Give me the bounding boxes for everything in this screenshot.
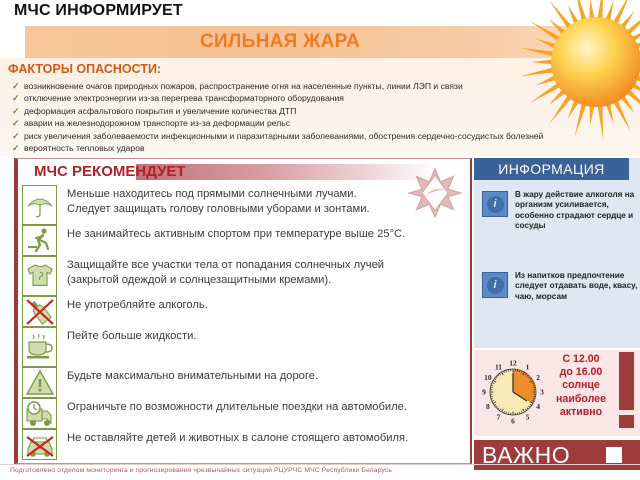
- info-icon: i: [482, 191, 508, 217]
- svg-text:2: 2: [536, 373, 540, 382]
- svg-text:11: 11: [495, 362, 502, 371]
- svg-text:5: 5: [526, 413, 530, 422]
- danger-factor-text: вероятность тепловых ударов: [24, 143, 145, 153]
- danger-factor-item: ✓возникновение очагов природных пожаров,…: [10, 80, 640, 92]
- danger-factor-item: ✓деформация асфальтового покрытия и увел…: [10, 105, 640, 117]
- check-icon: ✓: [12, 80, 20, 92]
- svg-text:12: 12: [509, 359, 517, 368]
- info-icon-glyph: i: [487, 196, 504, 213]
- information-item: i В жару действие алкоголя на организм у…: [482, 190, 640, 232]
- recommendation-text: Будьте максимально внимательными на доро…: [57, 367, 468, 384]
- svg-text:8: 8: [486, 402, 490, 411]
- svg-text:6: 6: [511, 417, 515, 424]
- recommendation-row: Защищайте все участки тела от попадания …: [22, 256, 468, 296]
- hero-banner-title: СИЛЬНАЯ ЖАРА: [0, 26, 560, 58]
- danger-factor-text: аварии на железнодорожном транспорте из-…: [24, 118, 290, 128]
- sun-activity-text: С 12.00до 16.00солнценаиболееактивно: [550, 353, 612, 419]
- no-car-icon: [22, 429, 57, 460]
- check-icon: ✓: [12, 142, 20, 154]
- danger-factor-text: возникновение очагов природных пожаров, …: [24, 81, 463, 91]
- check-icon: ✓: [12, 117, 20, 129]
- information-heading-label: ИНФОРМАЦИЯ: [498, 161, 604, 177]
- info-icon: i: [482, 272, 508, 298]
- information-panel: ИНФОРМАЦИЯ i В жару действие алкоголя на…: [474, 158, 640, 348]
- svg-text:4: 4: [536, 402, 540, 411]
- recommendation-row: Пейте больше жидкости.: [22, 327, 468, 367]
- danger-factors-list: ✓возникновение очагов природных пожаров,…: [10, 80, 640, 154]
- recommendation-row: Меньше находитесь под прямыми солнечными…: [22, 185, 468, 225]
- danger-factor-item: ✓вероятность тепловых ударов: [10, 142, 640, 154]
- check-icon: ✓: [12, 92, 20, 104]
- recommendation-row: Не занимайтесь активным спортом при темп…: [22, 225, 468, 256]
- danger-factor-text: деформация асфальтового покрытия и увели…: [24, 106, 296, 116]
- recommendations-panel: МЧС РЕКОМЕНДУЕТ Меньше находитесь под пр…: [14, 158, 472, 464]
- recommendations-heading: МЧС РЕКОМЕНДУЕТ: [34, 163, 186, 180]
- information-item-text: Из напитков предпочтение следует отдават…: [508, 271, 640, 302]
- check-icon: ✓: [12, 105, 20, 117]
- hot-drink-cup-icon: [22, 327, 57, 367]
- footer-divider: [0, 464, 640, 465]
- umbrella-icon: [22, 185, 57, 225]
- recommendation-text: Не оставляйте детей и животных в салоне …: [57, 429, 468, 446]
- svg-text:7: 7: [497, 413, 501, 422]
- recommendation-text: Защищайте все участки тела от попадания …: [57, 256, 468, 287]
- page-title: МЧС ИНФОРМИРУЕТ: [14, 2, 183, 20]
- danger-factor-item: ✓риск увеличения заболеваемости инфекцио…: [10, 130, 640, 142]
- information-item: i Из напитков предпочтение следует отдав…: [482, 271, 640, 302]
- danger-factor-text: риск увеличения заболеваемости инфекцион…: [24, 131, 543, 141]
- exclamation-mark-icon: [619, 352, 634, 428]
- important-bar: ВАЖНО: [474, 440, 640, 470]
- recommendations-list: Меньше находитесь под прямыми солнечными…: [22, 185, 468, 460]
- sun-activity-line: наиболее: [550, 393, 612, 406]
- information-heading: ИНФОРМАЦИЯ: [474, 158, 629, 180]
- information-item-text: В жару действие алкоголя на организм уси…: [508, 190, 640, 232]
- sun-activity-line: солнце: [550, 379, 612, 392]
- recommendation-text: Меньше находитесь под прямыми солнечными…: [57, 185, 468, 216]
- recommendation-text: Ограничьте по возможности длительные пое…: [57, 398, 468, 415]
- recommendation-row: Будьте максимально внимательными на доро…: [22, 367, 468, 398]
- footer-credit: Подготовлено отделом мониторинга и прогн…: [10, 467, 570, 474]
- no-alcohol-icon: [22, 296, 57, 327]
- svg-text:3: 3: [540, 388, 544, 397]
- sun-activity-panel: 121234567891011 С 12.00до 16.00солнценаи…: [474, 350, 640, 436]
- svg-text:9: 9: [482, 388, 486, 397]
- warning-triangle-icon: [22, 367, 57, 398]
- svg-text:10: 10: [484, 373, 492, 382]
- info-icon-glyph: i: [487, 277, 504, 294]
- sun-activity-line: С 12.00: [550, 353, 612, 366]
- sun-activity-line: до 16.00: [550, 366, 612, 379]
- truck-clock-icon: [22, 398, 57, 429]
- recommendation-text: Пейте больше жидкости.: [57, 327, 468, 344]
- danger-factor-item: ✓аварии на железнодорожном транспорте из…: [10, 117, 640, 129]
- infographic-page: МЧС ИНФОРМИРУЕТ СИЛЬНАЯ ЖАРА ФАКТОРЫ ОПА…: [0, 0, 640, 480]
- recommendation-text: Не занимайтесь активным спортом при темп…: [57, 225, 468, 242]
- danger-factor-item: ✓отключение электроэнергии из-за перегре…: [10, 92, 640, 104]
- running-person-icon: [22, 225, 57, 256]
- recommendation-row: Не оставляйте детей и животных в салоне …: [22, 429, 468, 460]
- danger-factor-text: отключение электроэнергии из-за перегрев…: [24, 93, 344, 103]
- danger-factors-heading: ФАКТОРЫ ОПАСНОСТИ:: [8, 62, 161, 76]
- clock-face-icon: 121234567891011: [478, 354, 548, 429]
- recommendation-text: Не употребляйте алкоголь.: [57, 296, 468, 313]
- white-square-marker-icon: [606, 447, 622, 463]
- check-icon: ✓: [12, 130, 20, 142]
- sun-activity-line: активно: [550, 406, 612, 419]
- recommendation-row: Не употребляйте алкоголь.: [22, 296, 468, 327]
- svg-text:1: 1: [526, 362, 530, 371]
- t-shirt-icon: [22, 256, 57, 296]
- recommendation-row: Ограничьте по возможности длительные пое…: [22, 398, 468, 429]
